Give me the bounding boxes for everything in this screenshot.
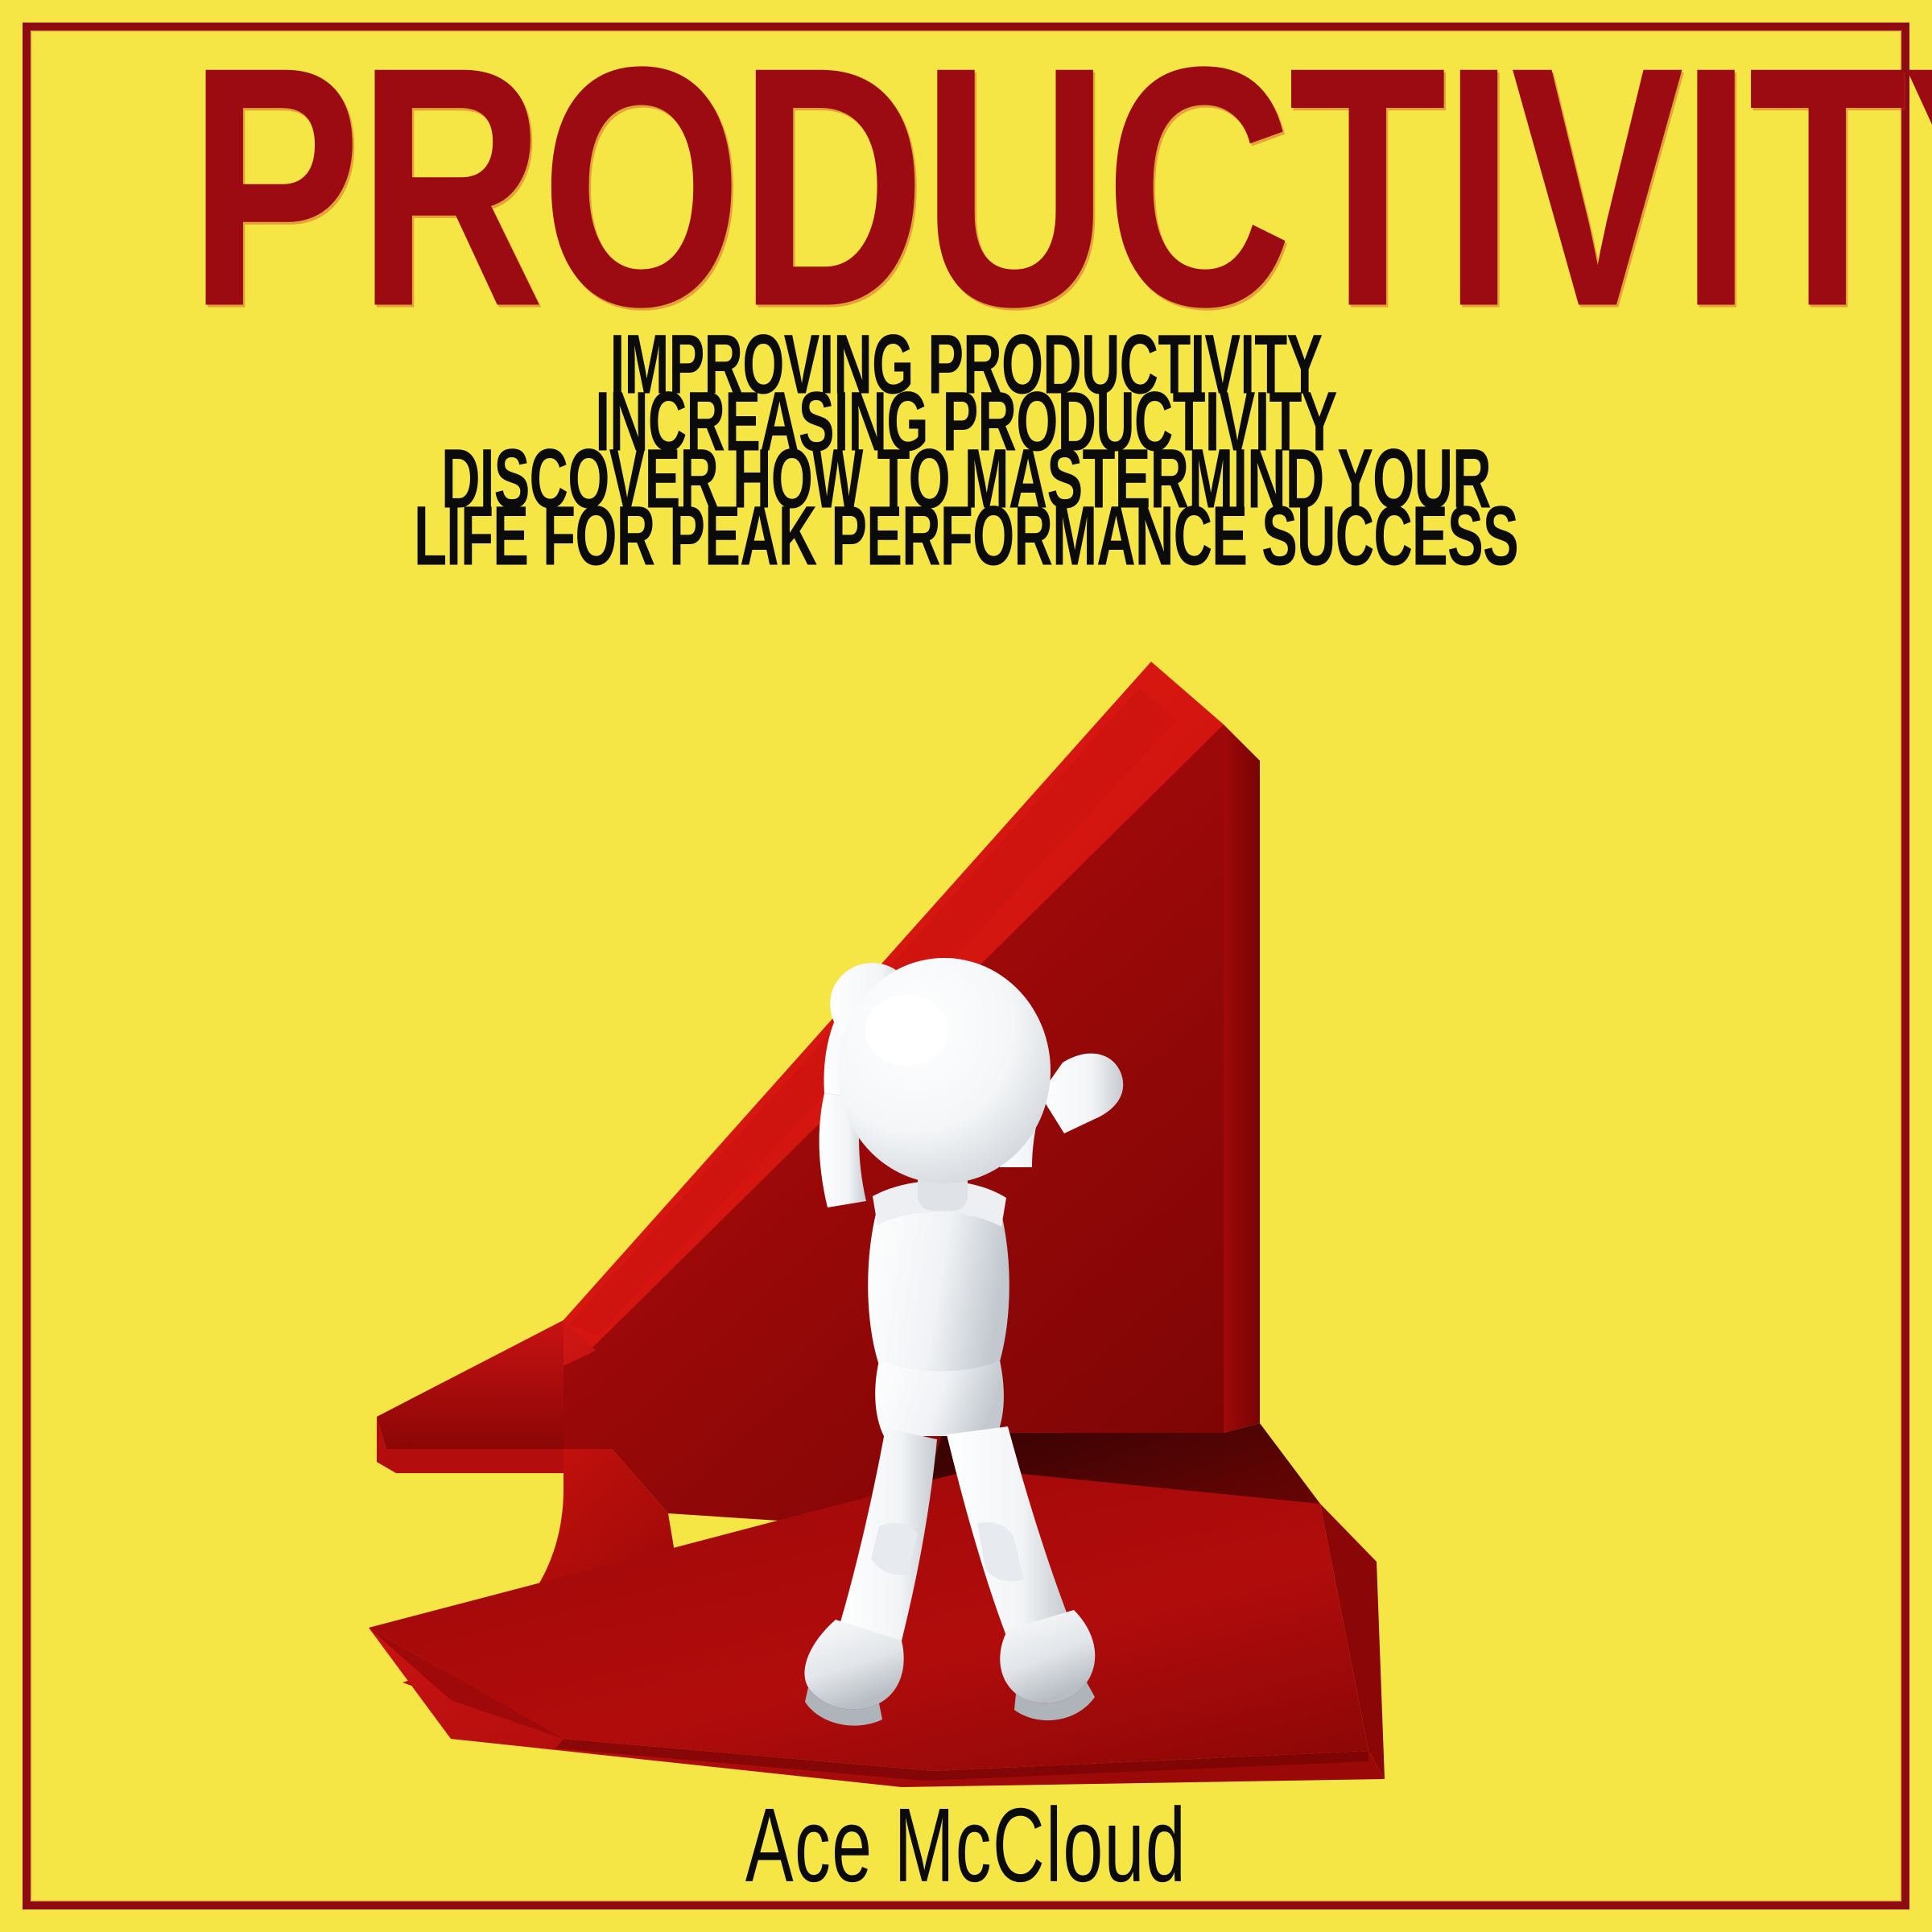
figure-head-highlight: [865, 995, 948, 1066]
book-cover: PRODUCTIVITY IMPROVING PRODUCTIVITY INCR…: [0, 0, 1932, 1932]
arrow-left-barb-face: [377, 1320, 563, 1449]
arrow-right-bevel: [1224, 724, 1260, 1433]
subtitle-line-4: LIFE FOR PEAK PERFORMANCE SUCCESS: [213, 502, 1719, 572]
book-title: PRODUCTIVITY: [188, 42, 1744, 332]
figure-hips: [875, 1360, 1004, 1436]
author-name: Ace McCloud: [290, 1793, 1642, 1900]
figure-head: [838, 958, 1051, 1183]
book-subtitle: IMPROVING PRODUCTIVITY INCREASING PRODUC…: [0, 336, 1932, 565]
cover-illustration: [0, 612, 1932, 1787]
figure-torso: [868, 1197, 1009, 1377]
